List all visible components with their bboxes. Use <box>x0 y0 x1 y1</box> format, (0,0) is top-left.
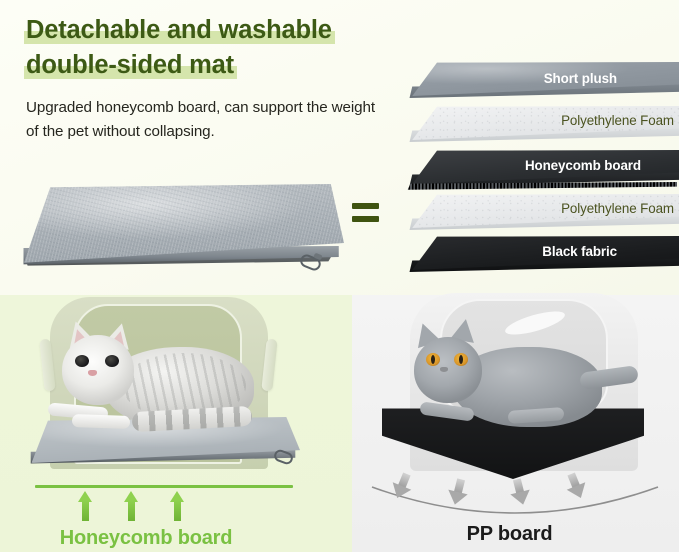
arrow-stem <box>128 500 135 521</box>
comparison-panel-left: Honeycomb board <box>0 295 352 552</box>
cat-nose <box>440 367 448 372</box>
equals-bar-top <box>352 203 379 209</box>
cat-eye-right <box>105 355 119 367</box>
support-baseline <box>35 485 293 488</box>
up-arrow-icon <box>124 491 138 521</box>
product-mat-image <box>14 184 344 282</box>
up-arrow-icon <box>170 491 184 521</box>
arrow-stem <box>174 500 181 521</box>
cat-head <box>62 335 134 405</box>
layer-label: Polyethylene Foam <box>561 113 674 128</box>
caption-pp-board: PP board <box>352 523 679 546</box>
title-line-1-text: Detachable and washable <box>26 16 332 44</box>
cat-eye-left <box>75 355 89 367</box>
layer-label: Polyethylene Foam <box>561 201 674 216</box>
up-arrow-icon <box>78 491 92 521</box>
layer-label: Short plush <box>544 71 617 86</box>
equals-icon <box>352 203 379 225</box>
equals-bar-bottom <box>352 216 379 222</box>
comparison-section: Honeycomb board <box>0 295 679 552</box>
cat-paw-rear <box>72 414 130 429</box>
product-infographic: Detachable and washable double-sided mat… <box>0 0 679 552</box>
zipper-pull-icon <box>300 254 324 268</box>
title-line-1: Detachable and washable <box>26 14 332 47</box>
layer-label: Honeycomb board <box>525 158 641 173</box>
cat-head <box>414 337 482 403</box>
layer-stack-diagram: Short plush Polyethylene Foam Honeycomb … <box>404 62 679 274</box>
title-line-2: double-sided mat <box>26 49 234 82</box>
cat-nose <box>88 370 97 376</box>
title-block: Detachable and washable double-sided mat <box>26 14 398 84</box>
subtitle-text: Upgraded honeycomb board, can support th… <box>26 96 386 144</box>
comparison-panel-right: PP board <box>352 295 679 552</box>
arrow-stem <box>82 500 89 521</box>
layer-label: Black fabric <box>542 244 617 259</box>
cat-eye-right <box>454 353 468 366</box>
cat-gray <box>404 317 634 445</box>
title-line-2-text: double-sided mat <box>26 51 234 79</box>
cat-eye-left <box>426 353 440 366</box>
top-section: Detachable and washable double-sided mat… <box>0 0 679 295</box>
zipper-pull-icon <box>274 449 296 462</box>
cat-silver-tabby <box>48 319 268 437</box>
caption-honeycomb-board: Honeycomb board <box>0 527 352 550</box>
